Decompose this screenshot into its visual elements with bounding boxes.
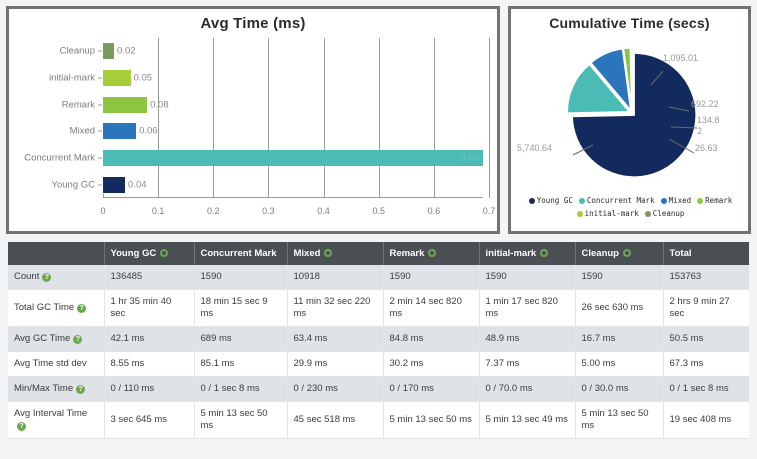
table-cell: 18 min 15 sec 9 ms — [194, 290, 287, 327]
help-icon[interactable]: ? — [76, 385, 85, 394]
x-tick-mark — [489, 194, 490, 198]
x-axis-line — [103, 197, 483, 198]
help-icon[interactable]: ? — [42, 273, 51, 282]
legend-label: Remark — [705, 196, 732, 205]
legend-label: Mixed — [669, 196, 692, 205]
row-label-cell: Count? — [8, 265, 104, 290]
row-label-cell: Min/Max Time? — [8, 377, 104, 402]
table-cell: 689 ms — [194, 327, 287, 352]
x-axis-tick-label: 0 — [100, 206, 105, 216]
help-icon[interactable]: ? — [77, 304, 86, 313]
x-axis-tick-label: 0.3 — [262, 206, 275, 216]
table-cell: 16.7 ms — [575, 327, 663, 352]
row-label: Min/Max Time — [14, 383, 73, 394]
bar-chart-title: Avg Time (ms) — [9, 9, 497, 32]
x-axis-tick-label: 0.7 — [483, 206, 496, 216]
row-label: Total GC Time — [14, 302, 74, 313]
gridline — [158, 38, 159, 198]
legend-color-swatch — [577, 211, 583, 217]
table-cell: 5 min 13 sec 50 ms — [194, 402, 287, 439]
pie-value-label: 1,095.01 — [663, 53, 698, 63]
bar-row[interactable]: initial-mark0.05 — [103, 70, 483, 86]
table-header-young-gc[interactable]: Young GC — [104, 242, 194, 265]
y-axis-category-label: Concurrent Mark — [24, 153, 95, 164]
bar-value-label: 0.04 — [128, 179, 147, 190]
legend-label: Young GC — [537, 196, 573, 205]
table-row: Count?136485159010918159015901590153763 — [8, 265, 749, 290]
table-header-blank[interactable] — [8, 242, 104, 265]
y-tick-mark — [98, 131, 102, 132]
y-tick-mark — [98, 184, 102, 185]
table-cell: 67.3 ms — [663, 352, 749, 377]
pie-legend-item[interactable]: Mixed — [661, 195, 692, 206]
table-cell: 10918 — [287, 265, 383, 290]
gc-statistics-table: Young GCConcurrent MarkMixedRemarkinitia… — [8, 242, 749, 439]
table-cell: 85.1 ms — [194, 352, 287, 377]
table-cell: 84.8 ms — [383, 327, 479, 352]
table-cell: 26 sec 630 ms — [575, 290, 663, 327]
table-cell: 1590 — [194, 265, 287, 290]
pie-value-label: 134.8 — [697, 115, 720, 125]
table-header-label: Young GC — [111, 248, 157, 259]
circle-icon — [623, 249, 631, 257]
table-header-label: Total — [670, 248, 692, 259]
table-cell: 0 / 1 sec 8 ms — [663, 377, 749, 402]
table-cell: 0 / 110 ms — [104, 377, 194, 402]
table-cell: 0 / 230 ms — [287, 377, 383, 402]
pie-legend-item[interactable]: Concurrent Mark — [579, 195, 655, 206]
table-header-initial-mark[interactable]: initial-mark — [479, 242, 575, 265]
table-cell: 5 min 13 sec 49 ms — [479, 402, 575, 439]
table-cell: 1590 — [383, 265, 479, 290]
table-cell: 7.37 ms — [479, 352, 575, 377]
table-cell: 0 / 70.0 ms — [479, 377, 575, 402]
pie-value-label: 26.63 — [695, 143, 718, 153]
avg-time-bar-chart-panel: Avg Time (ms) 00.10.20.30.40.50.60.7Clea… — [6, 6, 500, 234]
row-label: Count — [14, 271, 39, 282]
table-cell: 1 hr 35 min 40 sec — [104, 290, 194, 327]
x-tick-mark — [158, 194, 159, 198]
x-tick-mark — [213, 194, 214, 198]
pie-legend-item[interactable]: Cleanup — [645, 208, 685, 219]
table-cell: 0 / 30.0 ms — [575, 377, 663, 402]
pie-legend-item[interactable]: Young GC — [529, 195, 573, 206]
gc-statistics-table-wrapper: Young GCConcurrent MarkMixedRemarkinitia… — [8, 242, 749, 439]
legend-color-swatch — [661, 198, 667, 204]
bar-row[interactable]: Remark0.08 — [103, 97, 483, 113]
table-head: Young GCConcurrent MarkMixedRemarkinitia… — [8, 242, 749, 265]
table-cell: 63.4 ms — [287, 327, 383, 352]
circle-icon — [324, 249, 332, 257]
x-tick-mark — [434, 194, 435, 198]
gridline — [213, 38, 214, 198]
x-tick-mark — [379, 194, 380, 198]
table-cell: 19 sec 408 ms — [663, 402, 749, 439]
row-label: Avg Interval Time — [14, 408, 87, 419]
bar-value-label: 0.08 — [150, 99, 169, 110]
bar[interactable] — [103, 70, 131, 86]
pie-svg — [511, 31, 754, 191]
legend-color-swatch — [529, 198, 535, 204]
row-label-cell: Avg Interval Time? — [8, 402, 104, 439]
table-cell: 136485 — [104, 265, 194, 290]
pie-value-label: 2 — [697, 126, 702, 136]
table-header-concurrent-mark[interactable]: Concurrent Mark — [194, 242, 287, 265]
pie-chart-title: Cumulative Time (secs) — [511, 9, 748, 31]
bar-value-label: 0.02 — [117, 46, 136, 57]
table-cell: 42.1 ms — [104, 327, 194, 352]
y-axis-category-label: Remark — [62, 99, 95, 110]
table-cell: 2 min 14 sec 820 ms — [383, 290, 479, 327]
x-axis-tick-label: 0.2 — [207, 206, 220, 216]
table-row: Total GC Time?1 hr 35 min 40 sec18 min 1… — [8, 290, 749, 327]
table-header-cleanup[interactable]: Cleanup — [575, 242, 663, 265]
x-tick-mark — [103, 194, 104, 198]
table-cell: 2 hrs 9 min 27 sec — [663, 290, 749, 327]
bar-value-label: 0.69 — [460, 153, 479, 164]
table-cell: 3 sec 645 ms — [104, 402, 194, 439]
table-header-total[interactable]: Total — [663, 242, 749, 265]
table-row: Avg Time std dev8.55 ms85.1 ms29.9 ms30.… — [8, 352, 749, 377]
legend-label: Concurrent Mark — [587, 196, 655, 205]
legend-color-swatch — [697, 198, 703, 204]
table-header-label: Mixed — [294, 248, 321, 259]
table-header-mixed[interactable]: Mixed — [287, 242, 383, 265]
table-body: Count?136485159010918159015901590153763T… — [8, 265, 749, 439]
bar-row[interactable]: Concurrent Mark0.69 — [103, 150, 483, 166]
y-axis-category-label: Young GC — [52, 179, 96, 190]
gridline — [434, 38, 435, 198]
bar-chart-canvas: 00.10.20.30.40.50.60.7Cleanup0.02initial… — [9, 32, 497, 222]
table-row: Avg GC Time?42.1 ms689 ms63.4 ms84.8 ms4… — [8, 327, 749, 352]
bar[interactable] — [103, 123, 136, 139]
x-axis-tick-label: 0.5 — [372, 206, 385, 216]
y-tick-mark — [98, 51, 102, 52]
legend-color-swatch — [579, 198, 585, 204]
bar[interactable] — [103, 97, 147, 113]
pie-value-label: 692.22 — [691, 99, 719, 109]
table-cell: 153763 — [663, 265, 749, 290]
table-cell: 8.55 ms — [104, 352, 194, 377]
bar-value-label: 0.06 — [139, 126, 158, 137]
table-row: Min/Max Time?0 / 110 ms0 / 1 sec 8 ms0 /… — [8, 377, 749, 402]
row-label: Avg Time std dev — [14, 358, 87, 369]
table-cell: 0 / 170 ms — [383, 377, 479, 402]
table-header-row: Young GCConcurrent MarkMixedRemarkinitia… — [8, 242, 749, 265]
y-tick-mark — [98, 78, 102, 79]
table-cell: 11 min 32 sec 220 ms — [287, 290, 383, 327]
x-axis-tick-label: 0.4 — [317, 206, 330, 216]
row-label-cell: Total GC Time? — [8, 290, 104, 327]
bar-row[interactable]: Mixed0.06 — [103, 123, 483, 139]
pie-legend-item[interactable]: Remark — [697, 195, 732, 206]
table-row: Avg Interval Time?3 sec 645 ms5 min 13 s… — [8, 402, 749, 439]
table-cell: 1590 — [479, 265, 575, 290]
circle-icon — [428, 249, 436, 257]
table-cell: 50.5 ms — [663, 327, 749, 352]
y-tick-mark — [98, 104, 102, 105]
gridline — [268, 38, 269, 198]
charts-row: Avg Time (ms) 00.10.20.30.40.50.60.7Clea… — [0, 0, 757, 234]
table-header-label: Cleanup — [582, 248, 619, 259]
row-label-cell: Avg Time std dev — [8, 352, 104, 377]
table-cell: 5 min 13 sec 50 ms — [383, 402, 479, 439]
bar-plot-area: 00.10.20.30.40.50.60.7Cleanup0.02initial… — [103, 38, 483, 198]
x-axis-tick-label: 0.6 — [428, 206, 441, 216]
table-cell: 0 / 1 sec 8 ms — [194, 377, 287, 402]
x-tick-mark — [268, 194, 269, 198]
bar[interactable] — [103, 177, 125, 193]
y-axis-category-label: Mixed — [70, 126, 95, 137]
table-cell: 30.2 ms — [383, 352, 479, 377]
row-label-cell: Avg GC Time? — [8, 327, 104, 352]
bar-row[interactable]: Cleanup0.02 — [103, 43, 483, 59]
gc-statistics-page: Avg Time (ms) 00.10.20.30.40.50.60.7Clea… — [0, 0, 757, 459]
bar[interactable] — [103, 43, 114, 59]
row-label: Avg GC Time — [14, 333, 70, 344]
table-cell: 48.9 ms — [479, 327, 575, 352]
table-cell: 45 sec 518 ms — [287, 402, 383, 439]
circle-icon — [540, 249, 548, 257]
table-header-label: Remark — [390, 248, 425, 259]
circle-icon — [160, 249, 168, 257]
gridline — [324, 38, 325, 198]
table-header-label: initial-mark — [486, 248, 537, 259]
x-tick-mark — [324, 194, 325, 198]
table-header-label: Concurrent Mark — [201, 248, 277, 259]
bar[interactable] — [103, 150, 483, 166]
pie-chart-canvas: 5,740.641,095.01692.22134.8226.63 Young … — [511, 31, 748, 221]
table-header-remark[interactable]: Remark — [383, 242, 479, 265]
legend-label: initial-mark — [585, 209, 639, 218]
cumulative-time-pie-chart-panel: Cumulative Time (secs) 5,740.641,095.016… — [508, 6, 751, 234]
gridline — [379, 38, 380, 198]
help-icon[interactable]: ? — [73, 335, 82, 344]
table-cell: 5 min 13 sec 50 ms — [575, 402, 663, 439]
help-icon[interactable]: ? — [17, 422, 26, 431]
bar-row[interactable]: Young GC0.04 — [103, 177, 483, 193]
bar-value-label: 0.05 — [134, 73, 153, 84]
x-axis-tick-label: 0.1 — [152, 206, 165, 216]
table-cell: 29.9 ms — [287, 352, 383, 377]
pie-legend: Young GCConcurrent MarkMixedRemarkinitia… — [517, 193, 744, 219]
gridline — [489, 38, 490, 198]
legend-label: Cleanup — [653, 209, 685, 218]
pie-value-label: 5,740.64 — [517, 143, 552, 153]
legend-color-swatch — [645, 211, 651, 217]
pie-legend-item[interactable]: initial-mark — [577, 208, 639, 219]
table-cell: 1 min 17 sec 820 ms — [479, 290, 575, 327]
y-axis-category-label: Cleanup — [60, 46, 95, 57]
table-cell: 5.00 ms — [575, 352, 663, 377]
table-cell: 1590 — [575, 265, 663, 290]
y-axis-category-label: initial-mark — [49, 73, 95, 84]
y-tick-mark — [98, 158, 102, 159]
